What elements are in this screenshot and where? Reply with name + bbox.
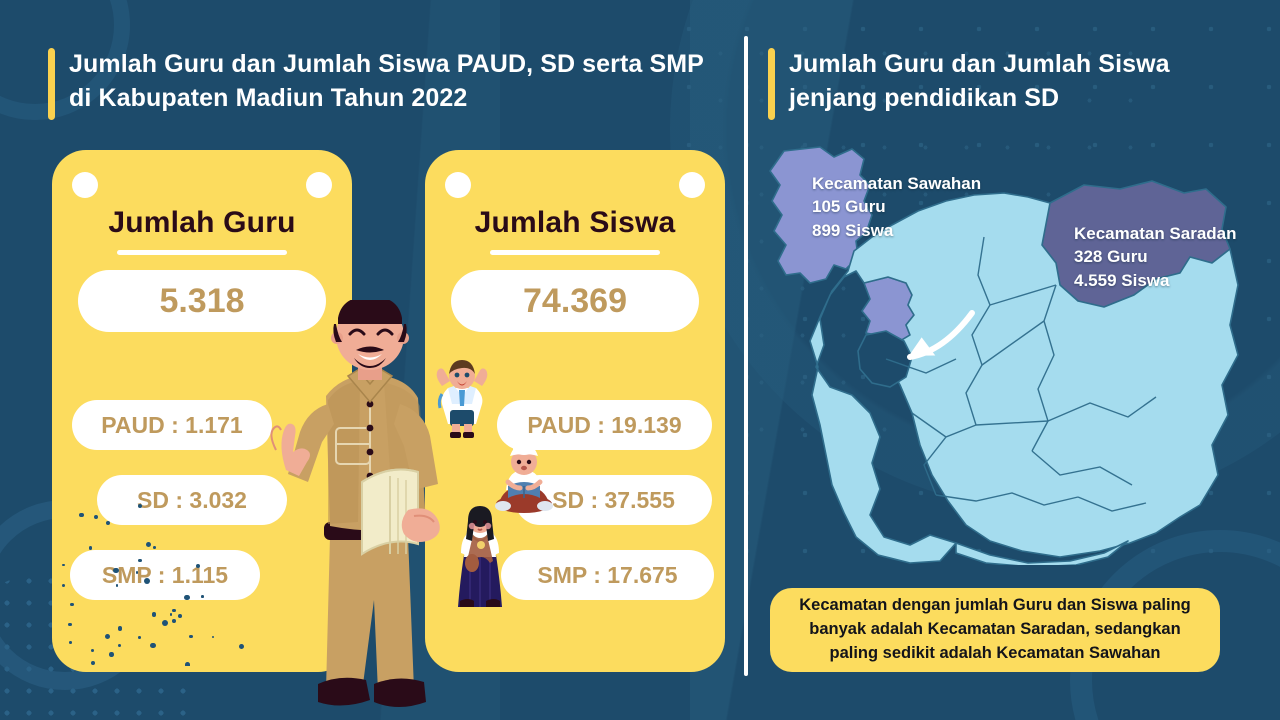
card-siswa-total-value: 74.369 — [451, 270, 699, 332]
infographic-canvas: Jumlah Guru dan Jumlah Siswa PAUD, SD se… — [0, 0, 1280, 720]
map-label-saradan-name: Kecamatan Saradan — [1074, 222, 1237, 245]
title-accent-bar — [48, 48, 55, 120]
card-hole-right-icon — [679, 172, 705, 198]
card-guru-total-value: 5.318 — [78, 270, 326, 332]
card-guru-row-paud: PAUD : 1.171 — [72, 400, 272, 450]
card-siswa-underline — [490, 250, 660, 255]
card-siswa-title: Jumlah Siswa — [425, 206, 725, 240]
card-guru-title: Jumlah Guru — [52, 206, 352, 240]
card-siswa-row-paud: PAUD : 19.139 — [497, 400, 712, 450]
map-label-saradan: Kecamatan Saradan 328 Guru 4.559 Siswa — [1074, 222, 1237, 292]
panel-divider — [744, 36, 748, 676]
card-guru-underline — [117, 250, 287, 255]
card-guru-row-sd: SD : 3.032 — [97, 475, 287, 525]
map-label-saradan-siswa: 4.559 Siswa — [1074, 269, 1237, 292]
map-label-saradan-guru: 328 Guru — [1074, 245, 1237, 268]
card-hole-left-icon — [445, 172, 471, 198]
card-jumlah-guru: Jumlah Guru 5.318 PAUD : 1.171 SD : 3.03… — [52, 150, 352, 672]
card-jumlah-siswa: Jumlah Siswa 74.369 PAUD : 19.139 SD : 3… — [425, 150, 725, 672]
card-guru-row-smp: SMP : 1.115 — [70, 550, 260, 600]
right-panel-title-text: Jumlah Guru dan Jumlah Siswa jenjang pen… — [789, 48, 1238, 115]
map-summary-caption: Kecamatan dengan jumlah Guru dan Siswa p… — [770, 588, 1220, 672]
card-siswa-row-sd: SD : 37.555 — [515, 475, 712, 525]
map-label-sawahan-siswa: 899 Siswa — [812, 219, 981, 242]
map-label-sawahan-guru: 105 Guru — [812, 195, 981, 218]
left-panel-title: Jumlah Guru dan Jumlah Siswa PAUD, SD se… — [48, 48, 728, 120]
map-label-sawahan-name: Kecamatan Sawahan — [812, 172, 981, 195]
card-hole-right-icon — [306, 172, 332, 198]
map-label-sawahan: Kecamatan Sawahan 105 Guru 899 Siswa — [812, 172, 981, 242]
right-panel-title: Jumlah Guru dan Jumlah Siswa jenjang pen… — [768, 48, 1238, 120]
title-accent-bar — [768, 48, 775, 120]
card-hole-left-icon — [72, 172, 98, 198]
left-panel-title-text: Jumlah Guru dan Jumlah Siswa PAUD, SD se… — [69, 48, 728, 115]
card-siswa-row-smp: SMP : 17.675 — [501, 550, 714, 600]
